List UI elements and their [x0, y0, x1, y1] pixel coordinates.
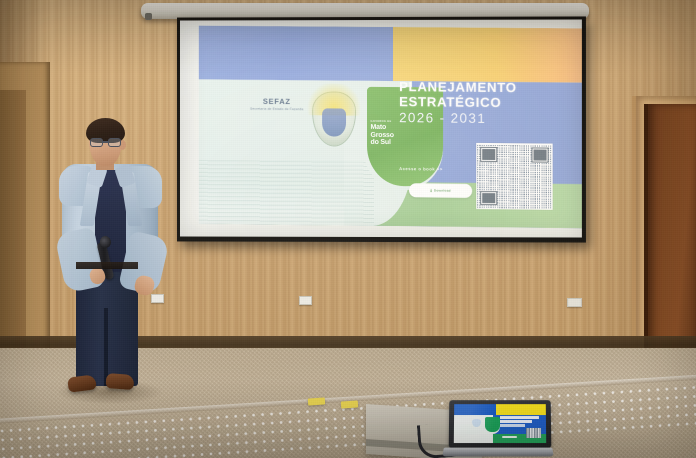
headline-line-2: ESTRATÉGICO	[399, 94, 572, 111]
glasses-icon	[90, 138, 121, 147]
wall-recess-left-dark	[0, 90, 26, 352]
headline-line-1: PLANEJAMENTO	[399, 79, 572, 96]
glasses-lens-right	[108, 138, 121, 147]
cta-text: Acesse o book >>	[399, 166, 443, 171]
sefaz-logo: SEFAZ Secretaria de Estado de Fazenda	[241, 97, 313, 111]
laptop-lid	[449, 400, 552, 448]
qr-code-cells	[477, 145, 551, 209]
slide-block-blue-topleft	[199, 26, 394, 81]
laptop-keyboard-base[interactable]	[442, 448, 554, 457]
slide-headline: PLANEJAMENTO ESTRATÉGICO 2026 - 2031	[399, 79, 572, 128]
slide-scanlines	[199, 160, 374, 225]
wall-outlet	[567, 298, 582, 307]
download-icon	[430, 189, 433, 192]
photo-scene: SEFAZ Secretaria de Estado de Fazenda GO…	[0, 0, 696, 458]
qr-code-icon	[476, 143, 553, 210]
projection-surface: SEFAZ Secretaria de Estado de Fazenda GO…	[180, 19, 582, 237]
laptop[interactable]	[443, 400, 553, 458]
headline-years: 2026 - 2031	[399, 110, 572, 128]
wall-outlet	[299, 296, 312, 305]
floor-marker	[341, 400, 358, 408]
presenter-shoe	[106, 373, 135, 390]
door-right[interactable]	[648, 104, 696, 352]
sefaz-subtitle: Secretaria de Estado de Fazenda	[241, 106, 313, 111]
presenter-belt	[76, 262, 138, 269]
presenter	[52, 112, 168, 402]
sefaz-wordmark: SEFAZ	[241, 97, 313, 106]
download-button-label: Download	[434, 189, 451, 193]
download-button[interactable]: Download	[409, 183, 472, 198]
floor-marker	[308, 397, 325, 405]
glasses-lens-left	[90, 138, 103, 147]
projector-screen-roller-cap	[145, 13, 152, 20]
qr-finder-pattern	[531, 148, 548, 163]
slide-block-yellow-topright	[393, 27, 582, 82]
laptop-screen	[454, 404, 546, 443]
presenter-torso	[62, 164, 158, 272]
qr-finder-pattern	[480, 147, 497, 162]
gov-name-line3: do Sul	[371, 139, 441, 147]
crest-core	[322, 108, 346, 136]
projection-screen: SEFAZ Secretaria de Estado de Fazenda GO…	[177, 16, 586, 242]
presentation-slide: SEFAZ Secretaria de Estado de Fazenda GO…	[199, 26, 582, 229]
qr-finder-pattern	[480, 191, 497, 206]
laptop-screen-gloss	[454, 404, 546, 443]
